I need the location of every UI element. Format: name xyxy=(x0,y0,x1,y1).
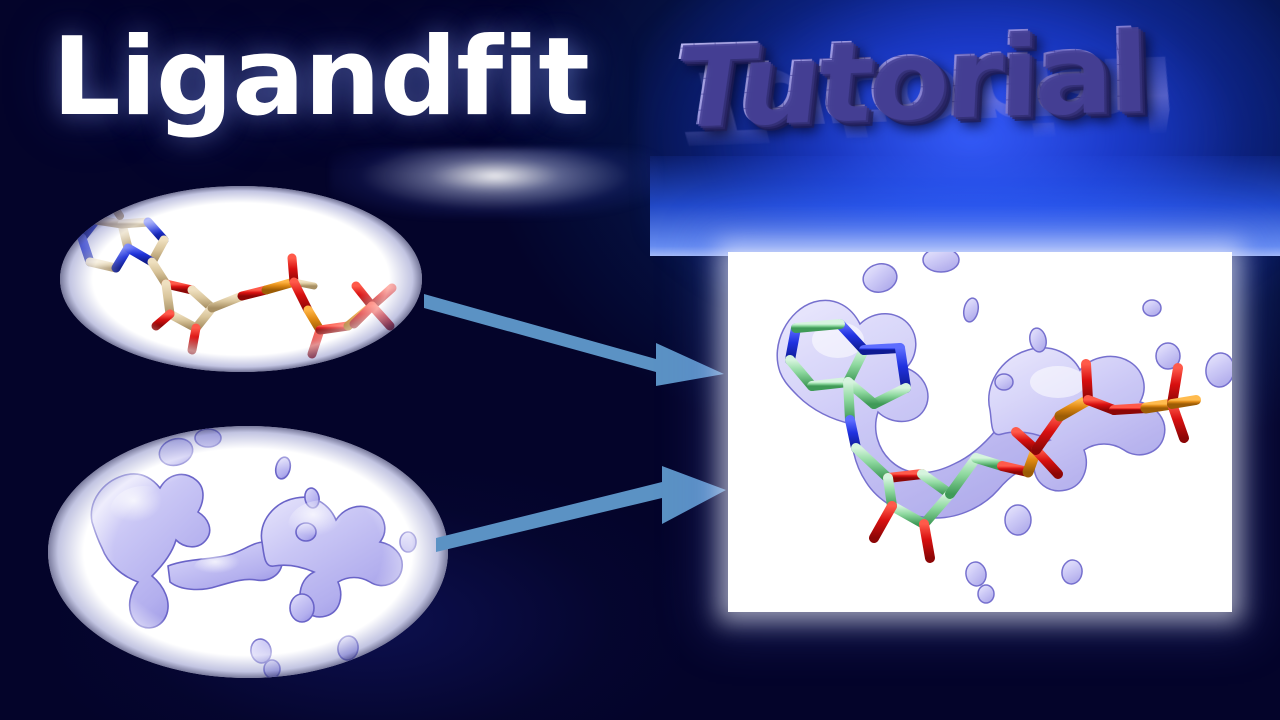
slide-root: Ligandfit Tutorial Tutorial xyxy=(0,0,1280,720)
tutorial-text: Tutorial xyxy=(672,18,1155,144)
electron-density-panel xyxy=(48,426,448,678)
page-title: Ligandfit xyxy=(52,24,589,132)
tutorial-reflective-floor xyxy=(650,156,1280,256)
ligand-stick-model-panel xyxy=(60,186,422,372)
fitted-ligand-result-panel xyxy=(728,252,1232,612)
fitted-ligand-svg xyxy=(728,252,1232,612)
tutorial-wordmark: Tutorial Tutorial xyxy=(650,6,1280,256)
ligand-molecule-svg xyxy=(60,186,422,372)
electron-density-svg xyxy=(48,426,448,678)
